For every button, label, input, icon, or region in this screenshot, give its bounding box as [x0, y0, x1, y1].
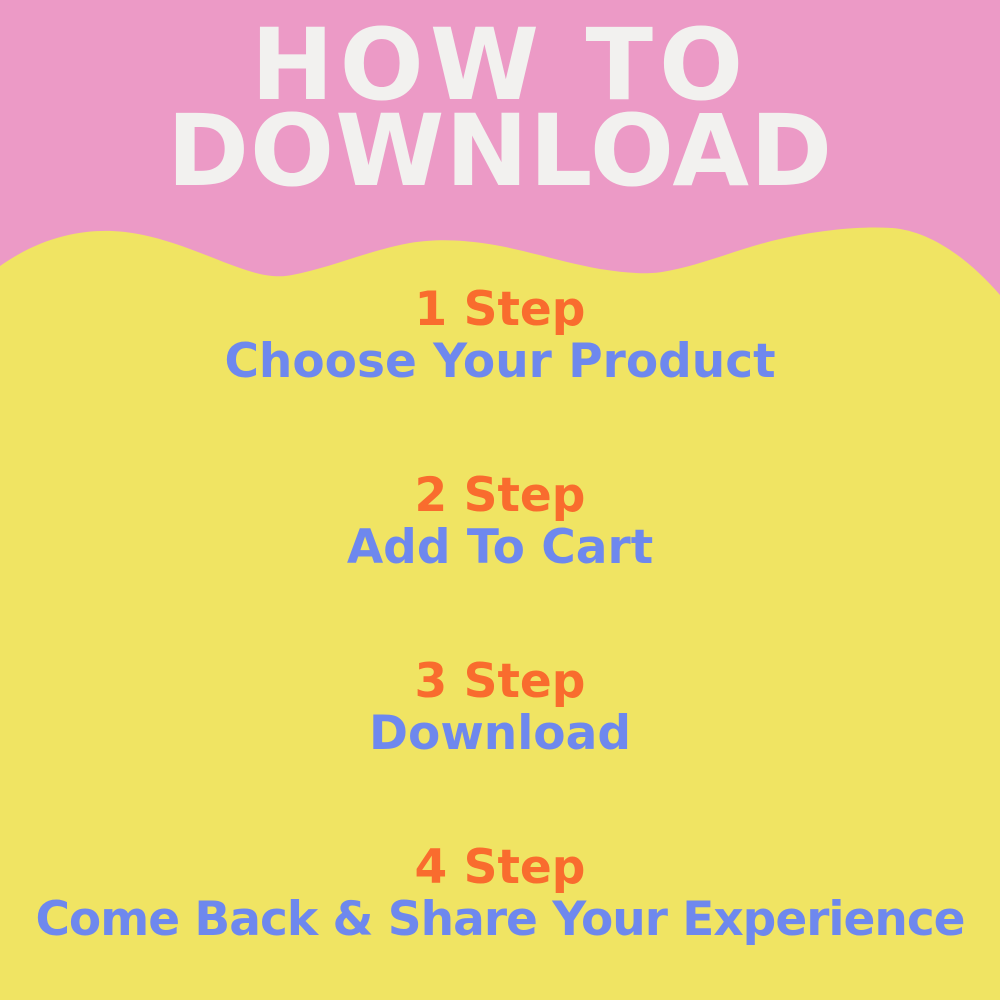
steps-list: 1 Step Choose Your Product 2 Step Add To…	[0, 272, 1000, 950]
step-2-label: 2 Step	[0, 472, 1000, 519]
poster-header: How To Download	[0, 0, 1000, 194]
step-item-1: 1 Step Choose Your Product	[0, 272, 1000, 392]
step-item-2: 2 Step Add To Cart	[0, 392, 1000, 578]
step-3-label: 3 Step	[0, 658, 1000, 705]
step-item-3: 3 Step Download	[0, 578, 1000, 764]
step-3-title: Download	[0, 705, 1000, 764]
step-1-title: Choose Your Product	[0, 333, 1000, 392]
poster-canvas: How To Download 1 Step Choose Your Produ…	[0, 0, 1000, 1000]
step-2-title: Add To Cart	[0, 519, 1000, 578]
step-1-label: 1 Step	[0, 286, 1000, 333]
page-title-line-2: Download	[0, 109, 1000, 194]
step-item-4: 4 Step Come Back & Share Your Experience	[0, 763, 1000, 950]
step-4-title: Come Back & Share Your Experience	[0, 891, 1000, 950]
step-4-label: 4 Step	[0, 844, 1000, 891]
